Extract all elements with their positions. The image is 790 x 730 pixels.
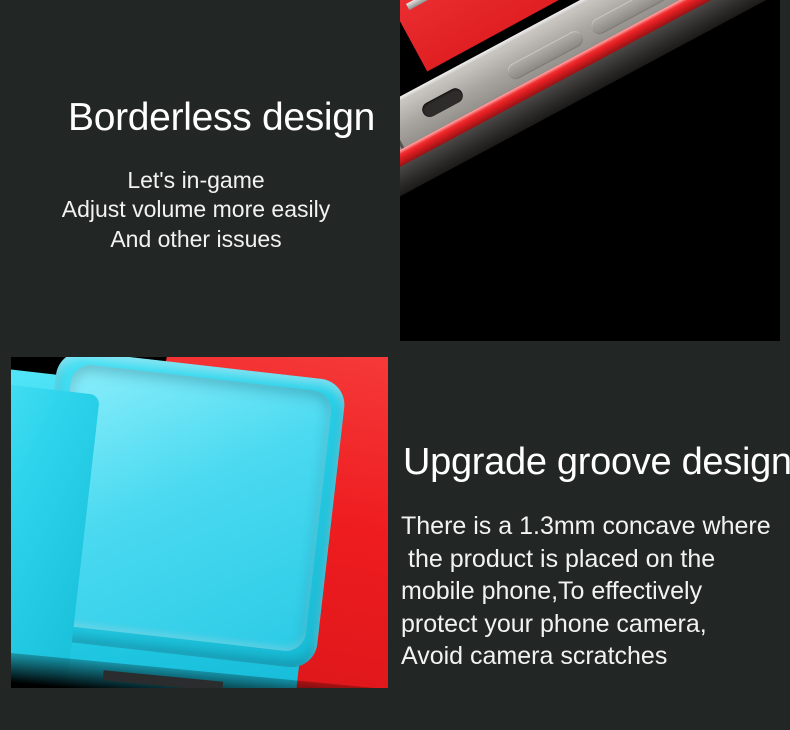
phone-edge-photo <box>400 0 780 341</box>
product-feature-page: Borderless design Let's in-game Adjust v… <box>0 0 790 730</box>
groove-body-line-3: mobile phone,To effectively <box>401 575 771 608</box>
borderless-headline: Borderless design <box>68 98 375 137</box>
groove-body-line-5: Avoid camera scratches <box>401 640 771 673</box>
groove-headline: Upgrade groove design <box>403 443 790 481</box>
borderless-body-line-1: Let's in-game <box>36 166 356 195</box>
borderless-body-line-3: And other issues <box>36 225 356 254</box>
groove-body-line-1: There is a 1.3mm concave where <box>401 510 771 543</box>
borderless-body: Let's in-game Adjust volume more easily … <box>36 166 356 254</box>
groove-body: There is a 1.3mm concave where the produ… <box>401 510 771 673</box>
groove-body-line-4: protect your phone camera, <box>401 608 771 641</box>
controller-groove-photo: ⏻ SEL <box>11 357 388 688</box>
borderless-body-line-2: Adjust volume more easily <box>36 195 356 224</box>
groove-body-line-2: the product is placed on the <box>401 543 771 576</box>
mute-switch-slot <box>420 86 466 120</box>
